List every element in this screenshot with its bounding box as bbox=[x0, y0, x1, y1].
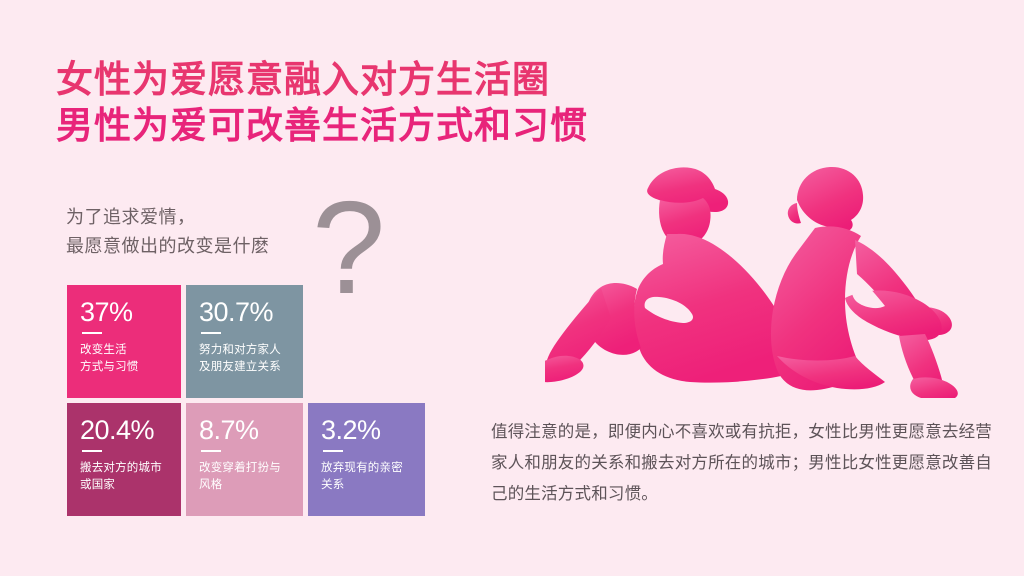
question-prompt: 为了追求爱情， 最愿意做出的改变是什麽 bbox=[66, 203, 326, 261]
stat-value: 30.7% bbox=[199, 297, 292, 327]
statistics-grid: 37% 改变生活 方式与习惯 30.7% 努力和对方家人 及朋友建立关系 20.… bbox=[67, 285, 425, 521]
question-line-1: 为了追求爱情， bbox=[66, 203, 326, 232]
stat-label-line-1: 放弃现有的亲密 bbox=[321, 460, 414, 477]
stat-label-line-2: 方式与习惯 bbox=[80, 359, 170, 376]
stat-label-line-1: 改变穿着打扮与 bbox=[199, 460, 292, 477]
stat-label-line-1: 改变生活 bbox=[80, 342, 170, 359]
infographic-canvas: 女性为爱愿意融入对方生活圈 男性为爱可改善生活方式和习惯 为了追求爱情， 最愿意… bbox=[0, 0, 1024, 576]
stat-label: 搬去对方的城市 或国家 bbox=[80, 460, 170, 494]
stat-label: 放弃现有的亲密 关系 bbox=[321, 460, 414, 494]
couple-silhouette-illustration bbox=[545, 148, 1015, 398]
stat-label-line-2: 及朋友建立关系 bbox=[199, 359, 292, 376]
woman-silhouette bbox=[545, 167, 798, 382]
stat-card-dress-style[interactable]: 8.7% 改变穿着打扮与 风格 bbox=[186, 403, 303, 516]
stat-card-relocate-city[interactable]: 20.4% 搬去对方的城市 或国家 bbox=[67, 403, 181, 516]
stat-label: 改变生活 方式与习惯 bbox=[80, 342, 170, 376]
statistics-row-1: 37% 改变生活 方式与习惯 30.7% 努力和对方家人 及朋友建立关系 bbox=[67, 285, 425, 398]
stat-card-give-up-relationship[interactable]: 3.2% 放弃现有的亲密 关系 bbox=[308, 403, 425, 516]
title-line-1: 女性为爱愿意融入对方生活圈 bbox=[56, 58, 696, 104]
summary-paragraph: 值得注意的是，即便内心不喜欢或有抗拒，女性比男性更愿意去经营家人和朋友的关系和搬… bbox=[491, 417, 999, 510]
stat-label-line-1: 搬去对方的城市 bbox=[80, 460, 170, 477]
stat-divider bbox=[201, 332, 221, 334]
stat-label-line-2: 风格 bbox=[199, 477, 292, 494]
stat-divider bbox=[82, 332, 102, 334]
stat-label-line-2: 或国家 bbox=[80, 477, 170, 494]
stat-divider bbox=[323, 450, 343, 452]
stat-value: 20.4% bbox=[80, 415, 170, 445]
stat-value: 3.2% bbox=[321, 415, 414, 445]
stat-label: 改变穿着打扮与 风格 bbox=[199, 460, 292, 494]
man-silhouette bbox=[771, 167, 958, 398]
question-line-2: 最愿意做出的改变是什麽 bbox=[66, 232, 326, 261]
stat-label-line-1: 努力和对方家人 bbox=[199, 342, 292, 359]
stat-card-lifestyle-habits[interactable]: 37% 改变生活 方式与习惯 bbox=[67, 285, 181, 398]
stat-label: 努力和对方家人 及朋友建立关系 bbox=[199, 342, 292, 376]
page-title: 女性为爱愿意融入对方生活圈 男性为爱可改善生活方式和习惯 bbox=[56, 58, 696, 150]
stat-divider bbox=[201, 450, 221, 452]
stat-divider bbox=[82, 450, 102, 452]
stat-label-line-2: 关系 bbox=[321, 477, 414, 494]
stat-card-family-friends[interactable]: 30.7% 努力和对方家人 及朋友建立关系 bbox=[186, 285, 303, 398]
stat-value: 37% bbox=[80, 297, 170, 327]
title-line-2: 男性为爱可改善生活方式和习惯 bbox=[56, 104, 696, 150]
stat-value: 8.7% bbox=[199, 415, 292, 445]
statistics-row-2: 20.4% 搬去对方的城市 或国家 8.7% 改变穿着打扮与 风格 3.2% bbox=[67, 403, 425, 516]
